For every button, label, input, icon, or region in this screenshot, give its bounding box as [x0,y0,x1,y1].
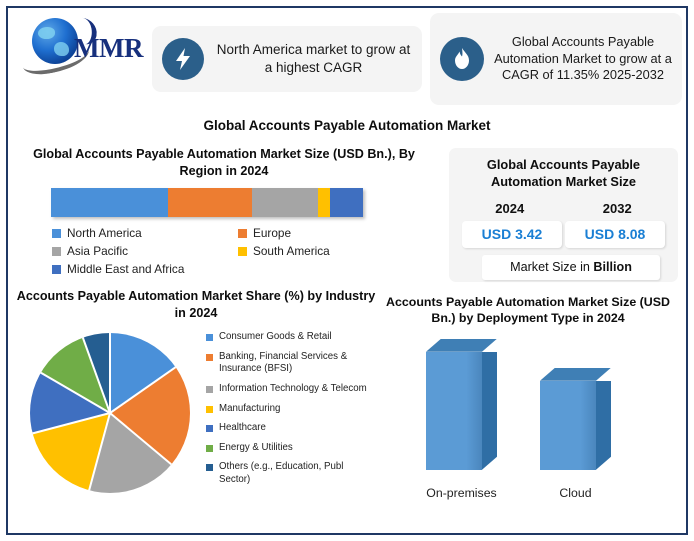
legend-label: Others (e.g., Education, Publ Sector) [219,461,376,486]
year-start-label: 2024 [456,201,564,216]
bar-side-face [482,352,497,470]
value-2032: USD 8.08 [565,221,665,248]
fact-card-north-america: North America market to grow at a highes… [152,26,422,92]
region-chart-legend: North AmericaEuropeAsia PacificSouth Ame… [52,226,424,280]
industry-share-block: Accounts Payable Automation Market Share… [16,288,376,519]
legend-swatch [206,386,213,393]
legend-item: North America [52,226,238,240]
pie-separator [109,333,111,413]
legend-label: South America [253,244,330,258]
market-size-values: USD 3.42 USD 8.08 [456,221,671,248]
bar-front-face [426,352,482,470]
legend-item: Banking, Financial Services & Insurance … [206,351,376,376]
legend-item: Energy & Utilities [206,442,376,455]
industry-pie-chart [30,333,190,493]
legend-label: Healthcare [219,422,266,435]
region-segment [51,188,168,217]
legend-swatch [206,334,213,341]
legend-item: South America [238,244,424,258]
legend-label: Energy & Utilities [219,442,293,455]
legend-swatch [206,354,213,361]
legend-label: Europe [253,226,291,240]
pie-separator [109,412,172,465]
industry-share-title: Accounts Payable Automation Market Share… [16,288,376,321]
legend-swatch [52,229,61,238]
deployment-chart-block: Accounts Payable Automation Market Size … [378,294,678,514]
legend-label: Middle East and Africa [67,262,184,276]
legend-item: Middle East and Africa [52,262,238,276]
legend-swatch [52,247,61,256]
infographic-page: MMR North America market to grow at a hi… [0,0,694,541]
legend-label: Asia Pacific [67,244,128,258]
legend-swatch [52,265,61,274]
pie-separator [82,338,111,414]
legend-item: Europe [238,226,424,240]
legend-swatch [206,406,213,413]
deployment-category-label: Cloud [526,486,625,500]
fact-card-text: North America market to grow at a highes… [213,41,414,76]
region-stacked-bar [51,188,363,217]
legend-item: Information Technology & Telecom [206,383,376,396]
lightning-bolt-icon [162,38,204,80]
legend-swatch [238,247,247,256]
legend-label: Consumer Goods & Retail [219,331,332,344]
bar-top-face [426,339,497,352]
legend-item: Others (e.g., Education, Publ Sector) [206,461,376,486]
fact-card-cagr: Global Accounts Payable Automation Marke… [430,13,682,105]
legend-item: Asia Pacific [52,244,238,258]
region-segment [330,188,363,217]
page-title: Global Accounts Payable Automation Marke… [0,118,694,133]
deployment-bar-chart: On-premisesCloud [378,339,678,514]
region-segment [252,188,318,217]
pie-separator [32,412,110,434]
logo-text: MMR [74,33,143,64]
deployment-category-label: On-premises [412,486,511,500]
deployment-bar [540,368,611,470]
year-end-label: 2032 [564,201,672,216]
legend-label: North America [67,226,142,240]
legend-swatch [238,229,247,238]
value-2024: USD 3.42 [462,221,562,248]
legend-item: Consumer Goods & Retail [206,331,376,344]
pie-separator [40,372,110,414]
unit-note-prefix: Market Size in [510,260,593,274]
legend-swatch [206,464,213,471]
bar-side-face [596,381,611,470]
market-size-years: 2024 2032 [456,201,671,216]
industry-pie-legend: Consumer Goods & RetailBanking, Financia… [206,331,376,493]
bar-front-face [540,381,596,470]
market-size-panel: Global Accounts Payable Automation Marke… [449,148,678,282]
region-segment [168,188,252,217]
legend-item: Healthcare [206,422,376,435]
legend-swatch [206,425,213,432]
fact-card-text: Global Accounts Payable Automation Marke… [492,34,674,85]
region-chart-title: Global Accounts Payable Automation Marke… [22,146,426,179]
pie-separator [109,367,176,414]
legend-label: Manufacturing [219,403,280,416]
pie-separator [88,413,111,491]
unit-note-unit: Billion [593,260,631,274]
deployment-bar [426,339,497,470]
market-size-unit-note: Market Size in Billion [482,255,660,280]
legend-swatch [206,445,213,452]
legend-item: Manufacturing [206,403,376,416]
mmr-logo: MMR [18,12,154,74]
region-chart-block: Global Accounts Payable Automation Marke… [22,146,426,280]
legend-label: Information Technology & Telecom [219,383,367,396]
bar-top-face [540,368,611,381]
deployment-chart-title: Accounts Payable Automation Market Size … [378,294,678,327]
region-segment [318,188,330,217]
legend-label: Banking, Financial Services & Insurance … [219,351,376,376]
market-size-title: Global Accounts Payable Automation Marke… [456,156,671,190]
flame-icon [440,37,484,81]
